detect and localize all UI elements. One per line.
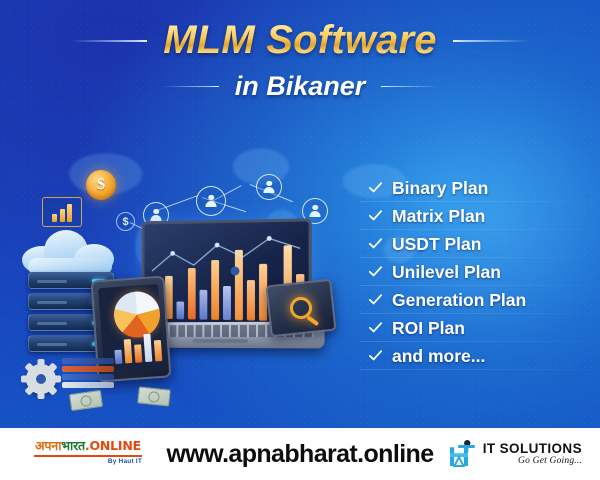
headline-row: MLM Software <box>0 18 600 63</box>
hero-illustration: $ $ <box>10 150 370 400</box>
gear-icon <box>26 364 56 394</box>
list-item[interactable]: USDT Plan <box>368 230 588 258</box>
brand-underline <box>34 455 142 457</box>
books-icon <box>62 358 114 388</box>
page-subtitle: in Bikaner <box>219 71 382 102</box>
list-item[interactable]: Unilevel Plan <box>368 258 588 286</box>
pie-chart <box>112 290 161 339</box>
brand-hindi-a: अपना <box>35 438 61 453</box>
search-tablet <box>265 279 336 338</box>
coin-symbol: $ <box>97 176 105 194</box>
it-solutions-mark-icon <box>447 439 477 469</box>
feature-list: Binary Plan Matrix Plan USDT Plan Unilev… <box>368 174 588 370</box>
check-icon <box>368 320 383 335</box>
it-solutions-text: IT SOLUTIONS Go Get Going... <box>483 442 582 467</box>
it-solutions-logo[interactable]: IT SOLUTIONS Go Get Going... <box>447 439 582 469</box>
list-item[interactable]: Binary Plan <box>368 174 588 202</box>
check-icon <box>368 292 383 307</box>
headline-deco-line-right <box>453 40 529 42</box>
cloud-icon <box>22 226 118 274</box>
check-icon <box>368 264 383 279</box>
check-icon <box>368 180 383 195</box>
list-item-label: Unilevel Plan <box>392 262 501 283</box>
list-item-label: ROI Plan <box>392 318 465 339</box>
network-user-icon <box>309 205 322 218</box>
title-block: MLM Software in Bikaner <box>0 18 600 102</box>
list-item[interactable]: Matrix Plan <box>368 202 588 230</box>
brand-sub-label: By Haut IT <box>34 458 142 465</box>
check-icon <box>368 208 383 223</box>
network-user-node <box>196 186 226 216</box>
network-user-icon <box>205 195 218 208</box>
network-user-icon <box>263 181 276 194</box>
brand-domain: .ONLINE <box>85 438 141 453</box>
coin-icon: $ <box>86 170 116 200</box>
list-item-label: Generation Plan <box>392 290 526 311</box>
banknote-icon <box>137 386 171 406</box>
page-title: MLM Software <box>147 18 453 63</box>
it-solutions-title: IT SOLUTIONS <box>483 442 582 456</box>
list-item[interactable]: ROI Plan <box>368 314 588 342</box>
list-item[interactable]: and more... <box>368 342 588 370</box>
list-item-label: USDT Plan <box>392 234 481 255</box>
apnabharat-wordmark: अपनाभारत.ONLINE <box>28 437 148 454</box>
subheadline-deco-line-left <box>161 86 219 88</box>
list-item-label: Binary Plan <box>392 178 488 199</box>
subheadline-row: in Bikaner <box>0 71 600 102</box>
bar-chart-badge-icon <box>42 197 82 227</box>
check-icon <box>368 348 383 363</box>
subheadline-deco-line-right <box>381 86 439 88</box>
headline-deco-line-left <box>71 40 147 42</box>
list-item-label: Matrix Plan <box>392 206 485 227</box>
footer-bar: अपनाभारत.ONLINE By Haut IT www.apnabhara… <box>0 428 600 480</box>
it-solutions-tagline: Go Get Going... <box>483 457 582 467</box>
list-item[interactable]: Generation Plan <box>368 286 588 314</box>
magnifier-icon <box>289 296 313 320</box>
website-url[interactable]: www.apnabharat.online <box>166 440 433 469</box>
list-item-label: and more... <box>392 346 485 367</box>
network-user-node <box>256 174 282 200</box>
check-icon <box>368 236 383 251</box>
banner: MLM Software in Bikaner <box>0 0 600 428</box>
brand-hindi-b: भारत <box>61 438 85 453</box>
apnabharat-logo[interactable]: अपनाभारत.ONLINE By Haut IT <box>28 437 148 465</box>
